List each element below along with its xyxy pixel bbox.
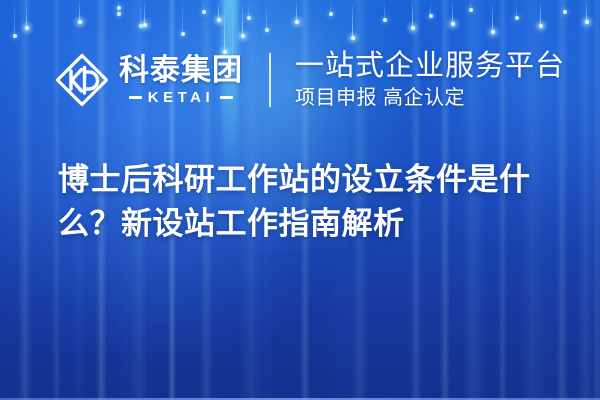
light-streak-icon [492, 0, 493, 32]
light-streak-head [491, 30, 495, 34]
light-streak-tail [384, 0, 385, 20]
light-streak-tail [352, 0, 353, 38]
light-streak-head [143, 23, 147, 27]
light-streak-head [411, 26, 415, 30]
light-streak-head [563, 10, 567, 14]
light-streak-tail [26, 0, 27, 28]
light-streak-head [202, 10, 206, 14]
brand-wordmark: 科泰集团 KETAI [119, 55, 243, 105]
light-streak-tail [492, 0, 493, 32]
light-streak-head [539, 24, 543, 28]
light-streak-icon [384, 0, 385, 20]
light-streak-tail [79, 0, 80, 22]
light-streak-tail [218, 0, 219, 20]
tagline-block: 一站式企业服务平台 项目申报 高企认定 [295, 50, 565, 110]
ketai-diamond-monogram-icon [54, 52, 110, 108]
light-streak-head [247, 16, 251, 20]
light-streak-head [25, 26, 29, 30]
light-streak-icon [412, 0, 413, 28]
light-streak-icon [144, 0, 145, 25]
light-streak-head [351, 36, 355, 40]
light-streak-icon [296, 0, 297, 22]
light-streak-tail [586, 0, 587, 22]
light-streak-head [451, 22, 455, 26]
light-streak-tail [452, 0, 453, 24]
light-streak-head [515, 16, 519, 20]
light-streak-head [139, 24, 143, 28]
brand-dash-left-icon [129, 96, 142, 99]
light-streak-icon [430, 0, 431, 16]
brand-name-en: KETAI [148, 90, 214, 105]
light-streak-icon [26, 0, 27, 28]
light-streak-icon [452, 0, 453, 24]
light-streak-icon [140, 0, 141, 26]
light-streak-icon [540, 0, 541, 26]
light-streak-head [13, 34, 17, 38]
light-streak-icon [564, 0, 565, 12]
promo-banner: 科泰集团 KETAI 一站式企业服务平台 项目申报 高企认定 博士后科研工作站的… [0, 0, 600, 400]
light-streak-tail [266, 0, 267, 30]
light-streak-icon [14, 0, 15, 36]
light-streak-icon [248, 0, 249, 18]
light-streak-tail [412, 0, 413, 28]
light-streak-icon [242, 0, 243, 36]
light-streak-head [117, 12, 121, 16]
light-streak-head [217, 18, 221, 22]
light-streak-head [585, 20, 589, 24]
light-streak-icon [182, 0, 183, 34]
light-streak-head [78, 20, 82, 24]
light-streak-icon [118, 0, 119, 14]
light-streak-head [295, 20, 299, 24]
light-streak-icon [218, 0, 219, 20]
light-streak-head [429, 14, 433, 18]
light-streak-head [181, 32, 185, 36]
light-streak-tail [296, 0, 297, 22]
brand-dash-right-icon [220, 96, 233, 99]
banner-header: 科泰集团 KETAI 一站式企业服务平台 项目申报 高企认定 [54, 44, 565, 116]
light-streak-tail [144, 0, 145, 25]
light-streak-icon [516, 0, 517, 18]
light-streak-head [383, 18, 387, 22]
light-streak-tail [540, 0, 541, 26]
light-streak-tail [140, 0, 141, 26]
headline-title: 博士后科研工作站的设立条件是什么？新设站工作指南解析 [58, 158, 563, 246]
light-streak-head [469, 8, 473, 12]
light-streak-tail [242, 0, 243, 36]
light-streak-tail [182, 0, 183, 34]
header-divider [269, 53, 271, 107]
light-streak-head [265, 28, 269, 32]
brand-name-cn: 科泰集团 [119, 55, 243, 87]
light-streak-icon [203, 0, 204, 12]
light-streak-icon [79, 0, 80, 22]
light-streak-tail [14, 0, 15, 36]
brand-lockup[interactable]: 科泰集团 KETAI [54, 52, 243, 108]
light-streak-icon [470, 0, 471, 10]
tagline-sub: 项目申报 高企认定 [295, 86, 565, 110]
light-streak-icon [266, 0, 267, 30]
light-streak-icon [586, 0, 587, 22]
light-streak-head [241, 34, 245, 38]
light-streak-icon [330, 0, 331, 14]
light-streak-head [329, 12, 333, 16]
light-streak-icon [352, 0, 353, 38]
tagline-main: 一站式企业服务平台 [295, 50, 565, 82]
brand-name-en-row: KETAI [129, 90, 233, 105]
